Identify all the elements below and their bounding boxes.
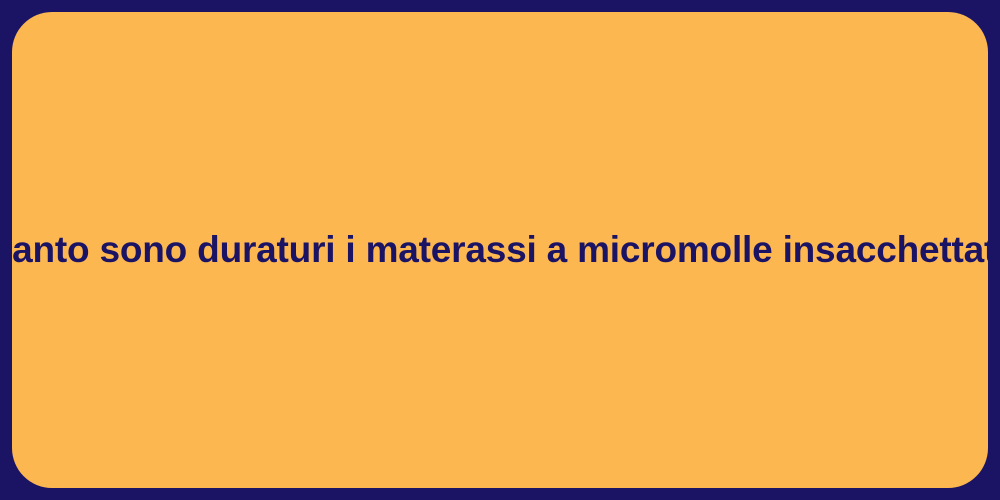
headline-question: Quanto sono duraturi i materassi a micro… xyxy=(0,227,1000,273)
banner-card: Quanto sono duraturi i materassi a micro… xyxy=(12,12,988,488)
banner-frame: Quanto sono duraturi i materassi a micro… xyxy=(0,0,1000,500)
